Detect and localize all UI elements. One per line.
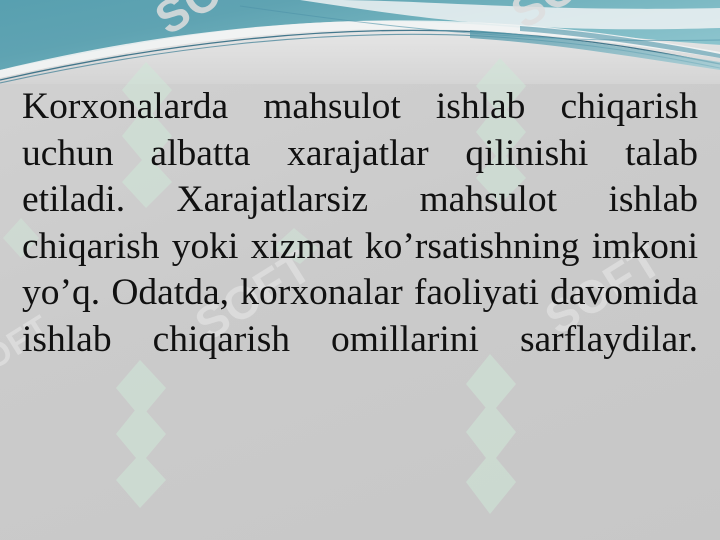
- slide-body-text: Korxonalarda mahsulot ishlab chiqarish u…: [22, 84, 698, 410]
- presentation-slide: SOFT SOFT SOFT SOFT SOFT Korxonalarda ma…: [0, 0, 720, 540]
- body-paragraph: Korxonalarda mahsulot ishlab chiqarish u…: [22, 84, 698, 410]
- decorative-header-banner: [0, 0, 720, 84]
